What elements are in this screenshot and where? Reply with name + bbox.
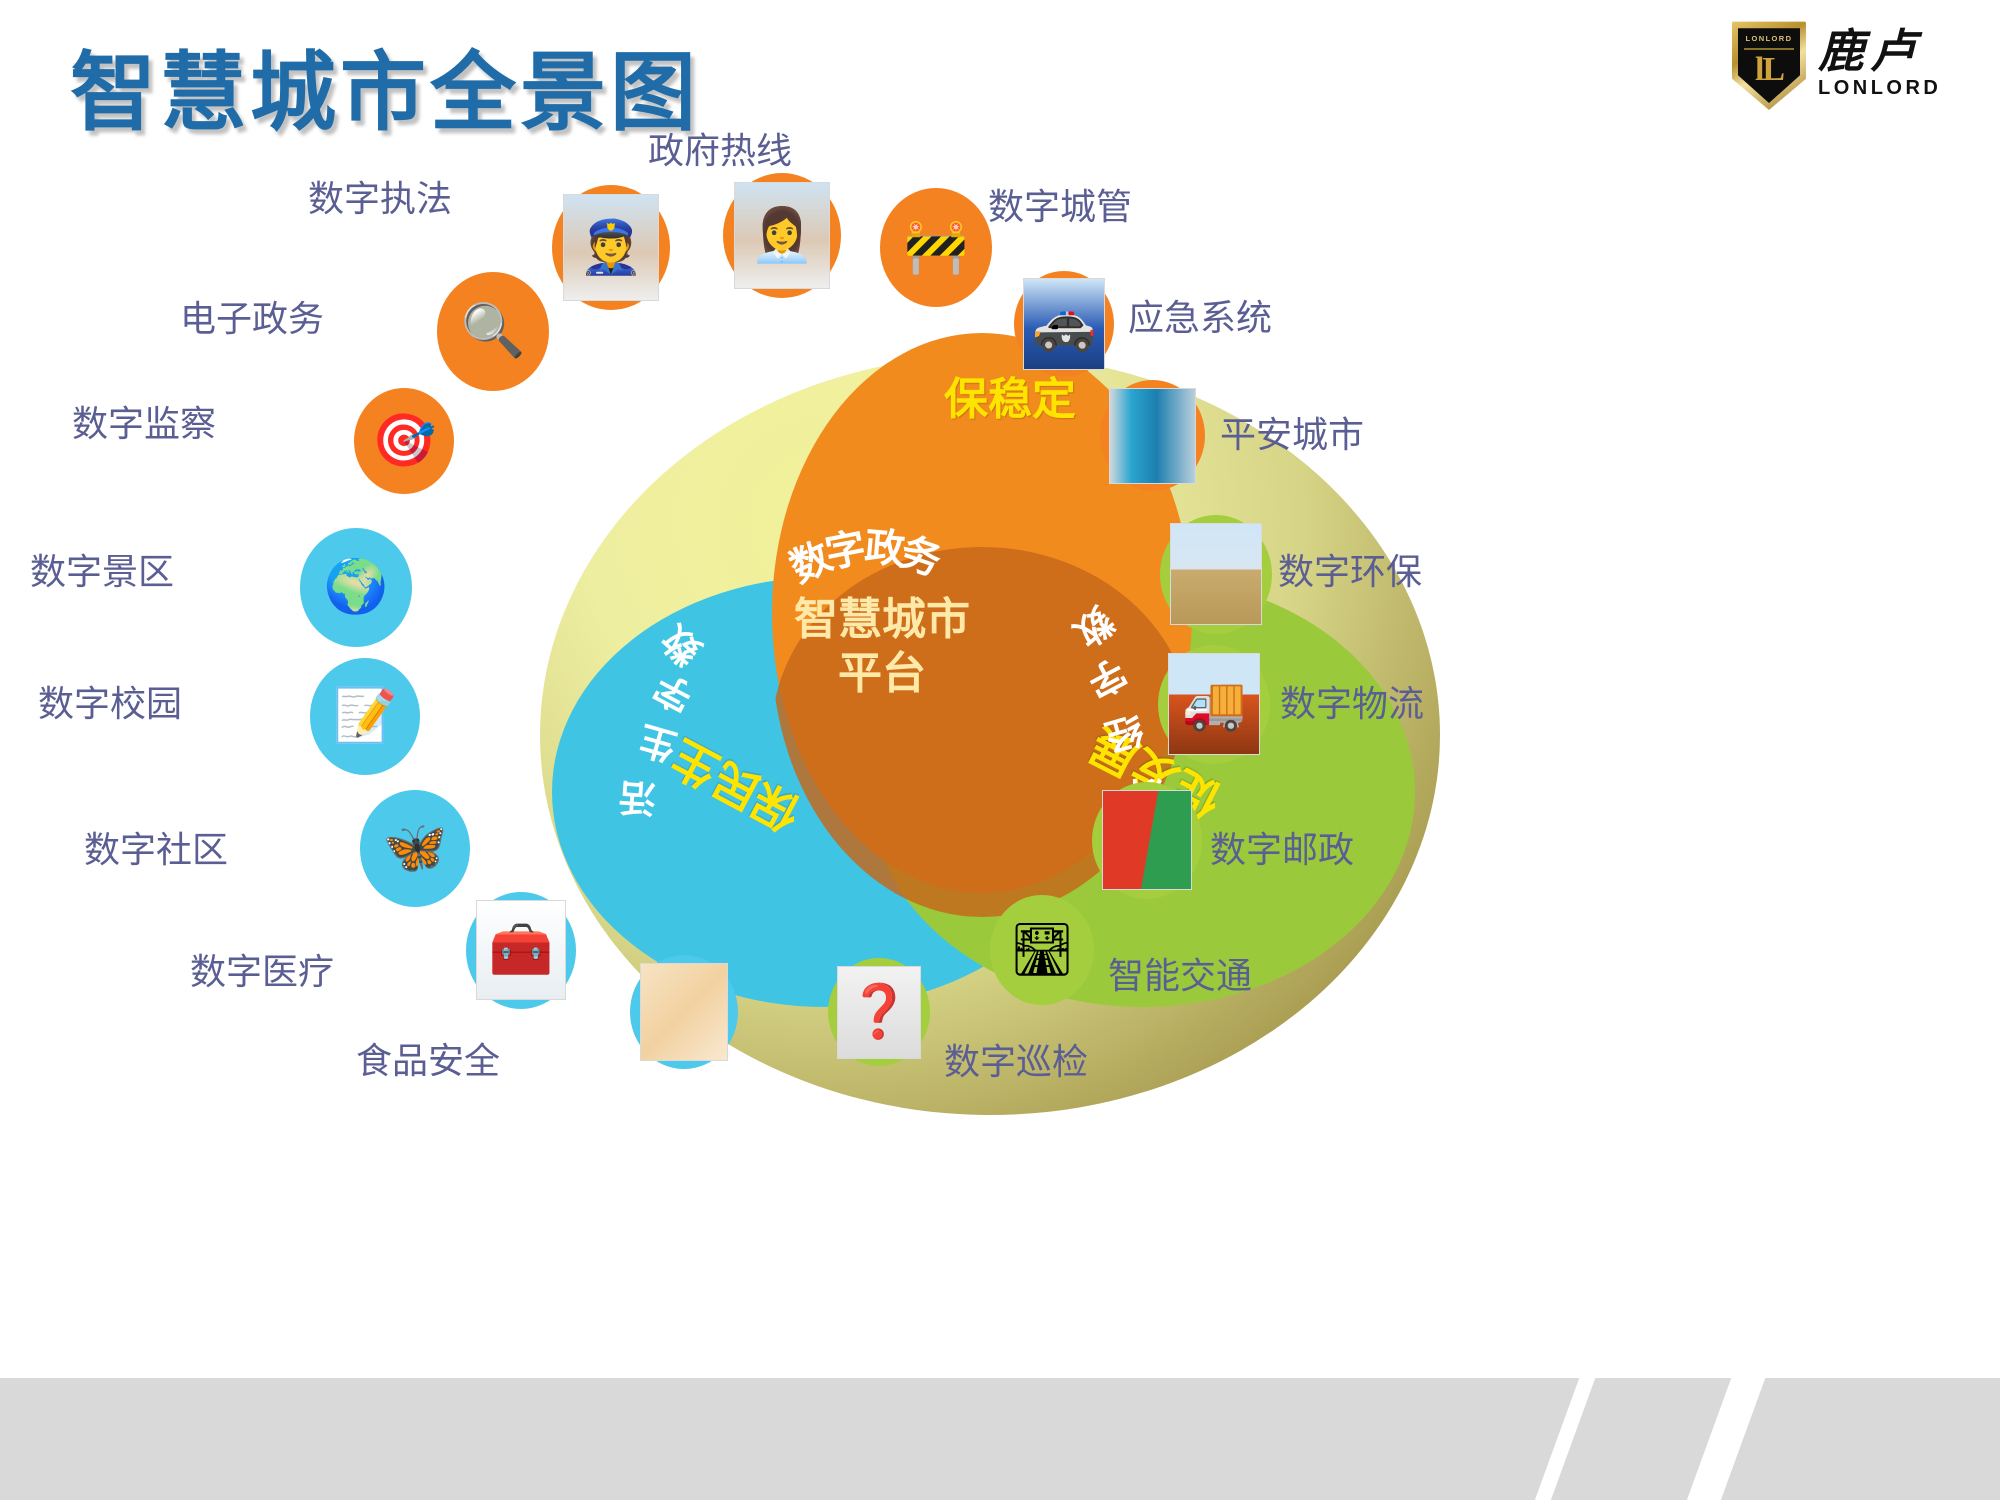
node-bubble-digital-campus[interactable]: 📝 bbox=[310, 658, 420, 775]
node-bubble-digital-logistics[interactable]: 🚚 bbox=[1158, 645, 1270, 764]
shield-monogram: lL bbox=[1732, 51, 1806, 89]
officer-avatar-icon-glyph: 👮 bbox=[579, 222, 644, 274]
butterfly-icon: 🦋 bbox=[375, 805, 454, 891]
node-label-digital-community: 数字社区 bbox=[84, 821, 228, 873]
footer-bar bbox=[0, 1378, 2000, 1500]
globe-islands-icon-glyph: 🌍 bbox=[324, 561, 389, 613]
node-bubble-digital-scenic-area[interactable]: 🌍 bbox=[300, 528, 412, 647]
footer-stripe-thin bbox=[1520, 1378, 1623, 1500]
venn-center-platform-title: 智慧城市 平台 bbox=[762, 593, 1002, 700]
node-label-emergency-system: 应急系统 bbox=[1128, 289, 1272, 341]
node-bubble-government-hotline[interactable]: 👩‍💼 bbox=[723, 173, 841, 298]
inspection-question-icon: ❓ bbox=[837, 966, 921, 1059]
first-aid-kit-icon: 🧰 bbox=[476, 900, 566, 1000]
inspection-question-icon-glyph: ❓ bbox=[847, 986, 912, 1038]
logo-chinese-name: 鹿卢 bbox=[1818, 29, 1922, 75]
node-bubble-digital-inspection[interactable]: ❓ bbox=[828, 958, 930, 1066]
node-label-e-government: 电子政务 bbox=[180, 290, 324, 342]
node-bubble-digital-community[interactable]: 🦋 bbox=[360, 790, 470, 907]
node-bubble-food-safety[interactable] bbox=[630, 955, 738, 1069]
shield-brand-text: LONLORD bbox=[1732, 34, 1806, 43]
node-bubble-digital-enforcement[interactable]: 👮 bbox=[552, 185, 670, 310]
node-label-digital-medical: 数字医疗 bbox=[190, 943, 334, 995]
node-label-digital-urban-mgmt: 数字城管 bbox=[988, 178, 1132, 230]
node-label-safe-city: 平安城市 bbox=[1220, 406, 1364, 458]
officer-avatar-icon: 👮 bbox=[563, 194, 660, 302]
venn-label-stability: 保稳定 bbox=[944, 375, 1004, 424]
node-bubble-safe-city[interactable] bbox=[1100, 380, 1205, 491]
target-arrows-icon: 🎯 bbox=[368, 402, 440, 480]
butterfly-icon-glyph: 🦋 bbox=[383, 822, 448, 874]
police-car-icon-glyph: 🚓 bbox=[1032, 298, 1097, 350]
node-label-digital-environment: 数字环保 bbox=[1278, 543, 1422, 595]
food-grid-icon bbox=[640, 963, 729, 1061]
platform-title-line2: 平台 bbox=[762, 647, 1002, 701]
node-bubble-digital-postal[interactable] bbox=[1092, 782, 1202, 899]
police-car-icon: 🚓 bbox=[1023, 278, 1105, 369]
node-label-digital-supervision: 数字监察 bbox=[72, 395, 216, 447]
node-bubble-emergency-system[interactable]: 🚓 bbox=[1014, 271, 1114, 377]
shield-divider bbox=[1744, 48, 1794, 50]
venn-label-digital-life: 数字生活 bbox=[638, 610, 698, 826]
control-room-screen-icon bbox=[1109, 388, 1195, 484]
freight-truck-icon: 🚚 bbox=[1168, 653, 1260, 755]
company-logo: LONLORD lL 鹿卢 LONLORD bbox=[1732, 8, 1962, 120]
node-label-digital-scenic-area: 数字景区 bbox=[30, 543, 174, 595]
node-bubble-smart-transport[interactable]: 🛣 bbox=[990, 895, 1094, 1005]
logo-wordmark: 鹿卢 LONLORD bbox=[1818, 29, 1941, 100]
magnifier-documents-icon: 🔍 bbox=[453, 287, 534, 375]
venn-label-char: 活 bbox=[594, 771, 658, 829]
solar-weather-station-icon bbox=[1170, 523, 1262, 625]
node-label-government-hotline: 政府热线 bbox=[648, 122, 792, 174]
clipboard-pencil-icon: 📝 bbox=[325, 673, 404, 759]
operator-photo-icon-glyph: 👩‍💼 bbox=[750, 210, 815, 262]
node-label-food-safety: 食品安全 bbox=[356, 1032, 500, 1084]
node-label-digital-campus: 数字校园 bbox=[38, 675, 182, 727]
road-junction-icon: 🛣 bbox=[1005, 909, 1080, 991]
node-label-digital-inspection: 数字巡检 bbox=[944, 1033, 1088, 1085]
node-label-digital-logistics: 数字物流 bbox=[1280, 675, 1424, 727]
freight-truck-icon-glyph: 🚚 bbox=[1182, 678, 1247, 730]
platform-title-line1: 智慧城市 bbox=[762, 593, 1002, 647]
page-title: 智慧城市全景图 bbox=[70, 22, 700, 147]
shield-icon: LONLORD lL bbox=[1732, 18, 1806, 110]
mailbox-icon bbox=[1102, 790, 1192, 890]
node-label-smart-transport: 智能交通 bbox=[1108, 947, 1252, 999]
magnifier-documents-icon-glyph: 🔍 bbox=[461, 305, 526, 357]
node-bubble-e-government[interactable]: 🔍 bbox=[437, 272, 549, 391]
node-bubble-digital-medical[interactable]: 🧰 bbox=[466, 892, 576, 1009]
first-aid-kit-icon-glyph: 🧰 bbox=[489, 924, 554, 976]
slide-canvas: 智慧城市全景图 LONLORD lL 鹿卢 LONLORD 保稳定 保民生 促发… bbox=[0, 0, 2000, 1500]
node-label-digital-postal: 数字邮政 bbox=[1210, 821, 1354, 873]
operator-photo-icon: 👩‍💼 bbox=[734, 182, 831, 290]
traffic-cone-icon: 🚧 bbox=[896, 203, 977, 291]
node-label-digital-enforcement: 数字执法 bbox=[308, 170, 452, 222]
logo-english-name: LONLORD bbox=[1818, 77, 1941, 100]
road-junction-icon-glyph: 🛣 bbox=[1009, 924, 1075, 976]
globe-islands-icon: 🌍 bbox=[316, 543, 397, 631]
traffic-cone-icon-glyph: 🚧 bbox=[904, 221, 969, 273]
footer-stripe-wide bbox=[1672, 1378, 1793, 1500]
node-bubble-digital-environment[interactable] bbox=[1160, 515, 1272, 634]
clipboard-pencil-icon-glyph: 📝 bbox=[333, 690, 398, 742]
node-bubble-digital-urban-mgmt[interactable]: 🚧 bbox=[880, 188, 992, 307]
node-bubble-digital-supervision[interactable]: 🎯 bbox=[354, 388, 454, 494]
target-arrows-icon-glyph: 🎯 bbox=[372, 415, 437, 467]
